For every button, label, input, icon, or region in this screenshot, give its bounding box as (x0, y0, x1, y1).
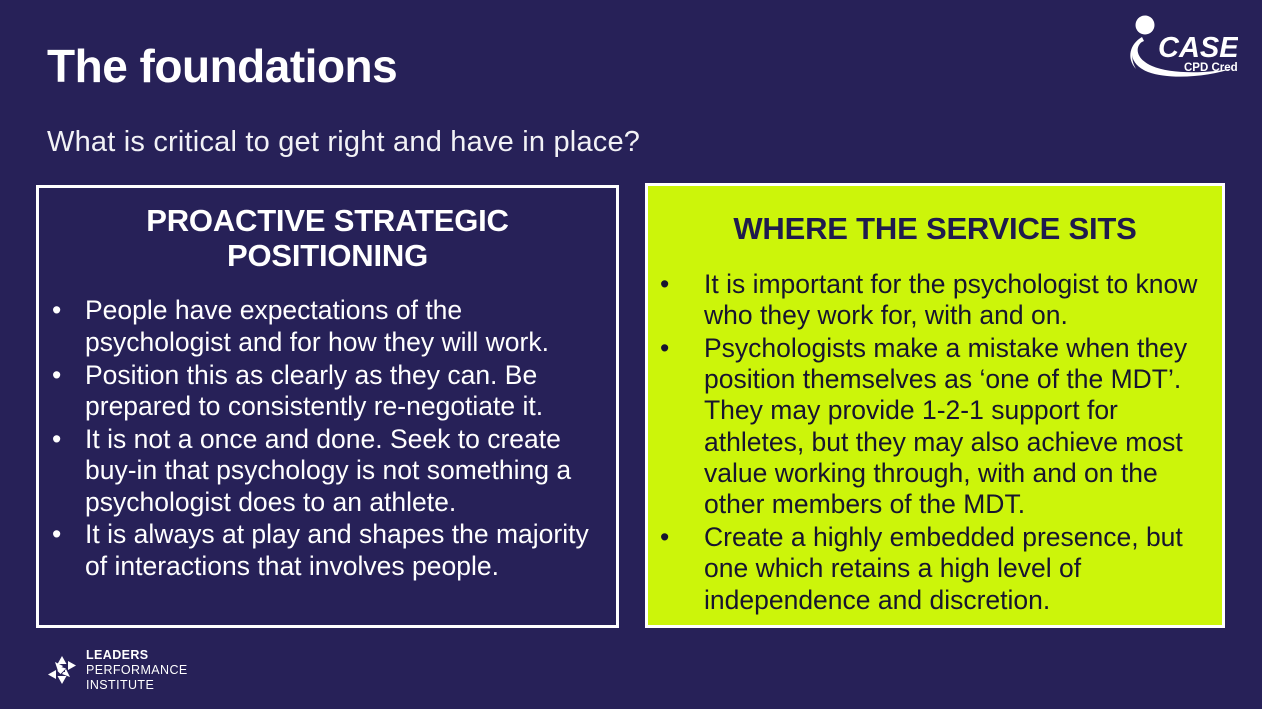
panel-left-heading: PROACTIVE STRATEGIC POSITIONING (67, 204, 588, 273)
leaders-line-1: LEADERS (86, 648, 188, 663)
leaders-wordmark: LEADERS PERFORMANCE INSTITUTE (86, 648, 188, 692)
list-item-text: People have expectations of the psycholo… (85, 295, 606, 358)
list-item: • It is not a once and done. Seek to cre… (39, 424, 616, 519)
panel-left-bullet-list: • People have expectations of the psycho… (39, 295, 616, 582)
list-item: • Position this as clearly as they can. … (39, 360, 616, 423)
list-item: • Create a highly embedded presence, but… (648, 522, 1222, 616)
list-item-text: Create a highly embedded presence, but o… (704, 522, 1210, 616)
page-title: The foundations (47, 42, 397, 90)
list-item: • Psychologists make a mistake when they… (648, 333, 1222, 521)
list-item-text: Psychologists make a mistake when they p… (704, 333, 1210, 521)
list-item-text: Position this as clearly as they can. Be… (85, 360, 606, 423)
cases-wordmark: CASES (1158, 32, 1238, 64)
panel-right-bullet-list: • It is important for the psychologist t… (648, 269, 1222, 616)
cases-logo: CASES CPD Credits (1122, 14, 1238, 82)
leaders-line-2: PERFORMANCE (86, 663, 188, 678)
panel-proactive-strategic-positioning: PROACTIVE STRATEGIC POSITIONING • People… (36, 185, 619, 628)
page-subtitle: What is critical to get right and have i… (47, 126, 640, 159)
panel-where-the-service-sits: WHERE THE SERVICE SITS • It is important… (645, 183, 1225, 628)
bullet-icon: • (52, 519, 85, 551)
bullet-icon: • (660, 269, 704, 300)
list-item: • It is important for the psychologist t… (648, 269, 1222, 332)
pinwheel-star-icon (47, 655, 77, 685)
list-item-text: It is important for the psychologist to … (704, 269, 1210, 332)
list-item-text: It is not a once and done. Seek to creat… (85, 424, 606, 519)
bullet-icon: • (660, 333, 704, 364)
list-item: • It is always at play and shapes the ma… (39, 519, 616, 582)
bullet-icon: • (52, 360, 85, 392)
leaders-line-3: INSTITUTE (86, 678, 188, 693)
bullet-icon: • (52, 295, 85, 327)
leaders-performance-institute-logo: LEADERS PERFORMANCE INSTITUTE (47, 648, 188, 692)
panel-right-heading: WHERE THE SERVICE SITS (668, 212, 1202, 247)
bullet-icon: • (52, 424, 85, 456)
list-item: • People have expectations of the psycho… (39, 295, 616, 358)
bullet-icon: • (660, 522, 704, 553)
list-item-text: It is always at play and shapes the majo… (85, 519, 606, 582)
cases-tagline: CPD Credits (1184, 62, 1238, 74)
